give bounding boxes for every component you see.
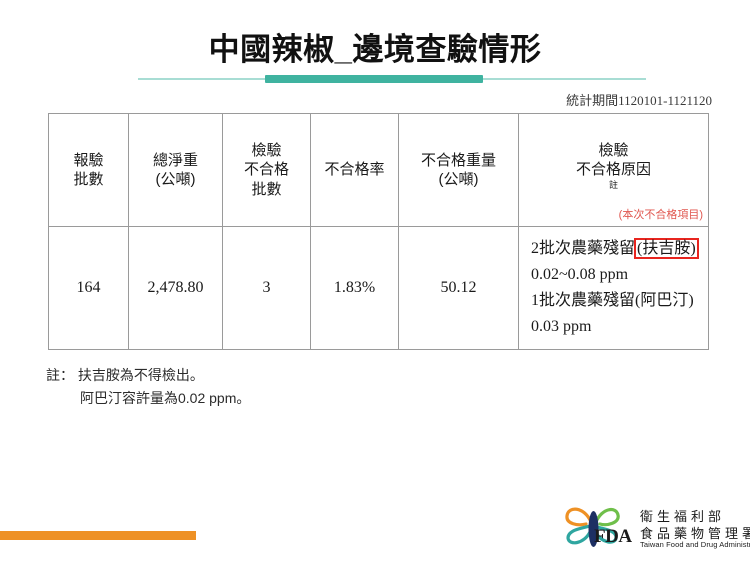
th-failure-reason-label: 檢驗 不合格原因 — [519, 141, 708, 179]
reason-line-3: 1批次農藥殘留(阿巴汀) — [531, 288, 708, 314]
th-total-net-weight: 總淨重 (公噸) — [129, 114, 223, 227]
agency-name-en: Taiwan Food and Drug Administration — [640, 540, 750, 549]
cell-failed-batches: 3 — [223, 227, 311, 350]
bottom-left-orange-bar — [0, 531, 196, 540]
th-failed-weight: 不合格重量 (公噸) — [399, 114, 519, 227]
fda-wordmark: FDA — [594, 526, 632, 548]
th-failure-reason-superscript: 註 — [609, 180, 618, 190]
reason-line-4: 0.03 ppm — [531, 314, 708, 340]
table-row: 164 2,478.80 3 1.83% 50.12 2批次農藥殘留(扶吉胺) … — [49, 227, 709, 350]
border-inspection-table: 報驗 批數 總淨重 (公噸) 檢驗 不合格 批數 不合格率 不合格重量 (公噸)… — [48, 113, 709, 350]
th-failure-rate-label: 不合格率 — [311, 160, 398, 179]
th-failed-weight-label: 不合格重量 (公噸) — [399, 151, 518, 189]
cell-failure-reason: 2批次農藥殘留(扶吉胺) 0.02~0.08 ppm 1批次農藥殘留(阿巴汀) … — [519, 227, 709, 350]
th-failed-batches: 檢驗 不合格 批數 — [223, 114, 311, 227]
footer-logo: FDA 衛生福利部 食品藥物管理署 Taiwan Food and Drug A… — [560, 498, 746, 556]
title-underline-decoration — [138, 75, 646, 83]
footnotes: 註： 扶吉胺為不得檢出。 阿巴汀容許量為0.02 ppm。 — [46, 364, 250, 410]
cell-total-net-weight: 2,478.80 — [129, 227, 223, 350]
reason-line-2: 0.02~0.08 ppm — [531, 262, 708, 288]
th-failed-batches-label: 檢驗 不合格 批數 — [223, 141, 310, 199]
statistics-period-label: 統計期間1120101-1121120 — [0, 90, 712, 109]
table-header-row: 報驗 批數 總淨重 (公噸) 檢驗 不合格 批數 不合格率 不合格重量 (公噸)… — [49, 114, 709, 227]
th-failure-rate: 不合格率 — [311, 114, 399, 227]
th-inspected-batches: 報驗 批數 — [49, 114, 129, 227]
footnote-line-2: 阿巴汀容許量為0.02 ppm。 — [46, 387, 250, 410]
cell-failed-weight: 50.12 — [399, 227, 519, 350]
th-total-net-weight-label: 總淨重 (公噸) — [129, 151, 222, 189]
title-underline-thick — [265, 75, 483, 83]
cell-failure-rate: 1.83% — [311, 227, 399, 350]
cell-inspected-batches: 164 — [49, 227, 129, 350]
th-failure-reason: 檢驗 不合格原因註 (本次不合格項目) — [519, 114, 709, 227]
reason-highlight-box: (扶吉胺) — [634, 238, 699, 259]
th-failure-reason-red-note: (本次不合格項目) — [619, 208, 703, 222]
footnote-line-1: 註： 扶吉胺為不得檢出。 — [46, 364, 250, 387]
page-title: 中國辣椒_邊境查驗情形 — [0, 24, 750, 69]
reason-line-1-prefix: 2批次農藥殘留 — [531, 240, 635, 257]
reason-line-1: 2批次農藥殘留(扶吉胺) — [531, 236, 708, 262]
th-inspected-batches-label: 報驗 批數 — [49, 151, 128, 189]
